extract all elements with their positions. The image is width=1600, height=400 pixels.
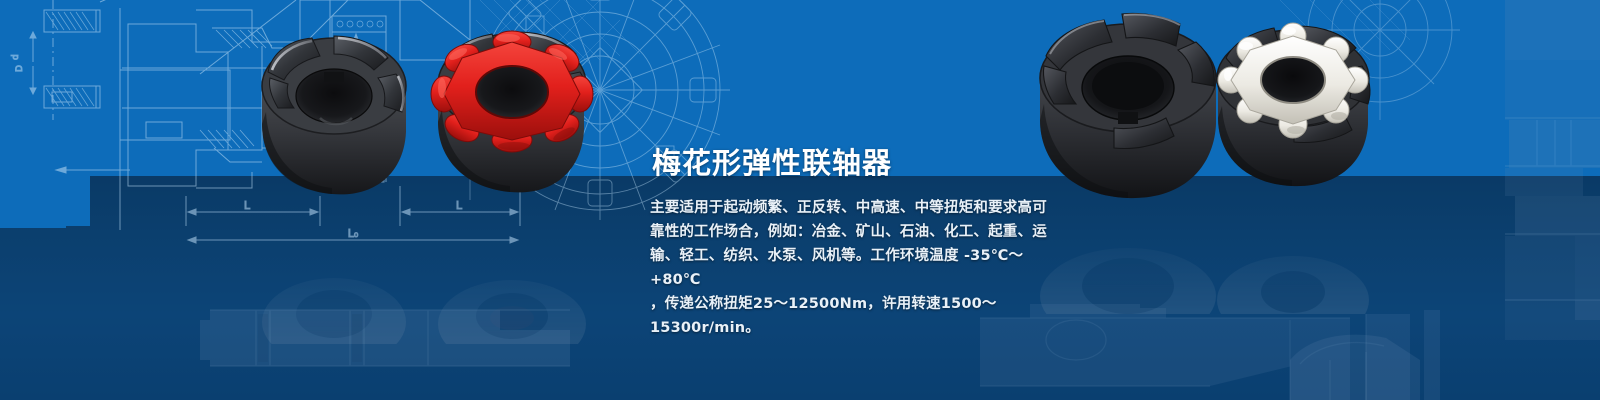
product-banner: d D xyxy=(0,0,1600,400)
description-line-1: 主要适用于起动频繁、正反转、中高速、中等扭矩和要求高可 xyxy=(650,196,1050,220)
svg-text:D: D xyxy=(15,65,25,72)
description-line-4: ，传递公称扭矩25～12500Nm，许用转速1500～15300r/min。 xyxy=(650,292,1050,340)
product-reflection-right xyxy=(1018,204,1378,314)
ghost-rollers-bottom-left xyxy=(200,300,660,400)
product-image-coupling-left-pair xyxy=(228,12,628,222)
ghost-part-bottom-right xyxy=(1290,330,1420,400)
product-image-coupling-right-pair xyxy=(1018,8,1378,203)
description-line-2: 靠性的工作场合，例如：冶金、矿山、石油、化工、起重、运 xyxy=(650,220,1050,244)
svg-text:d: d xyxy=(11,54,21,60)
description-line-3: 输、轻工、纺织、水泵、风机等。工作环境温度 -35℃～+80℃ xyxy=(650,244,1050,292)
page-title: 梅花形弹性联轴器 xyxy=(652,140,892,182)
product-description: 主要适用于起动频繁、正反转、中高速、中等扭矩和要求高可 靠性的工作场合，例如：冶… xyxy=(650,196,1050,340)
ghost-machinery-right xyxy=(1505,0,1600,400)
